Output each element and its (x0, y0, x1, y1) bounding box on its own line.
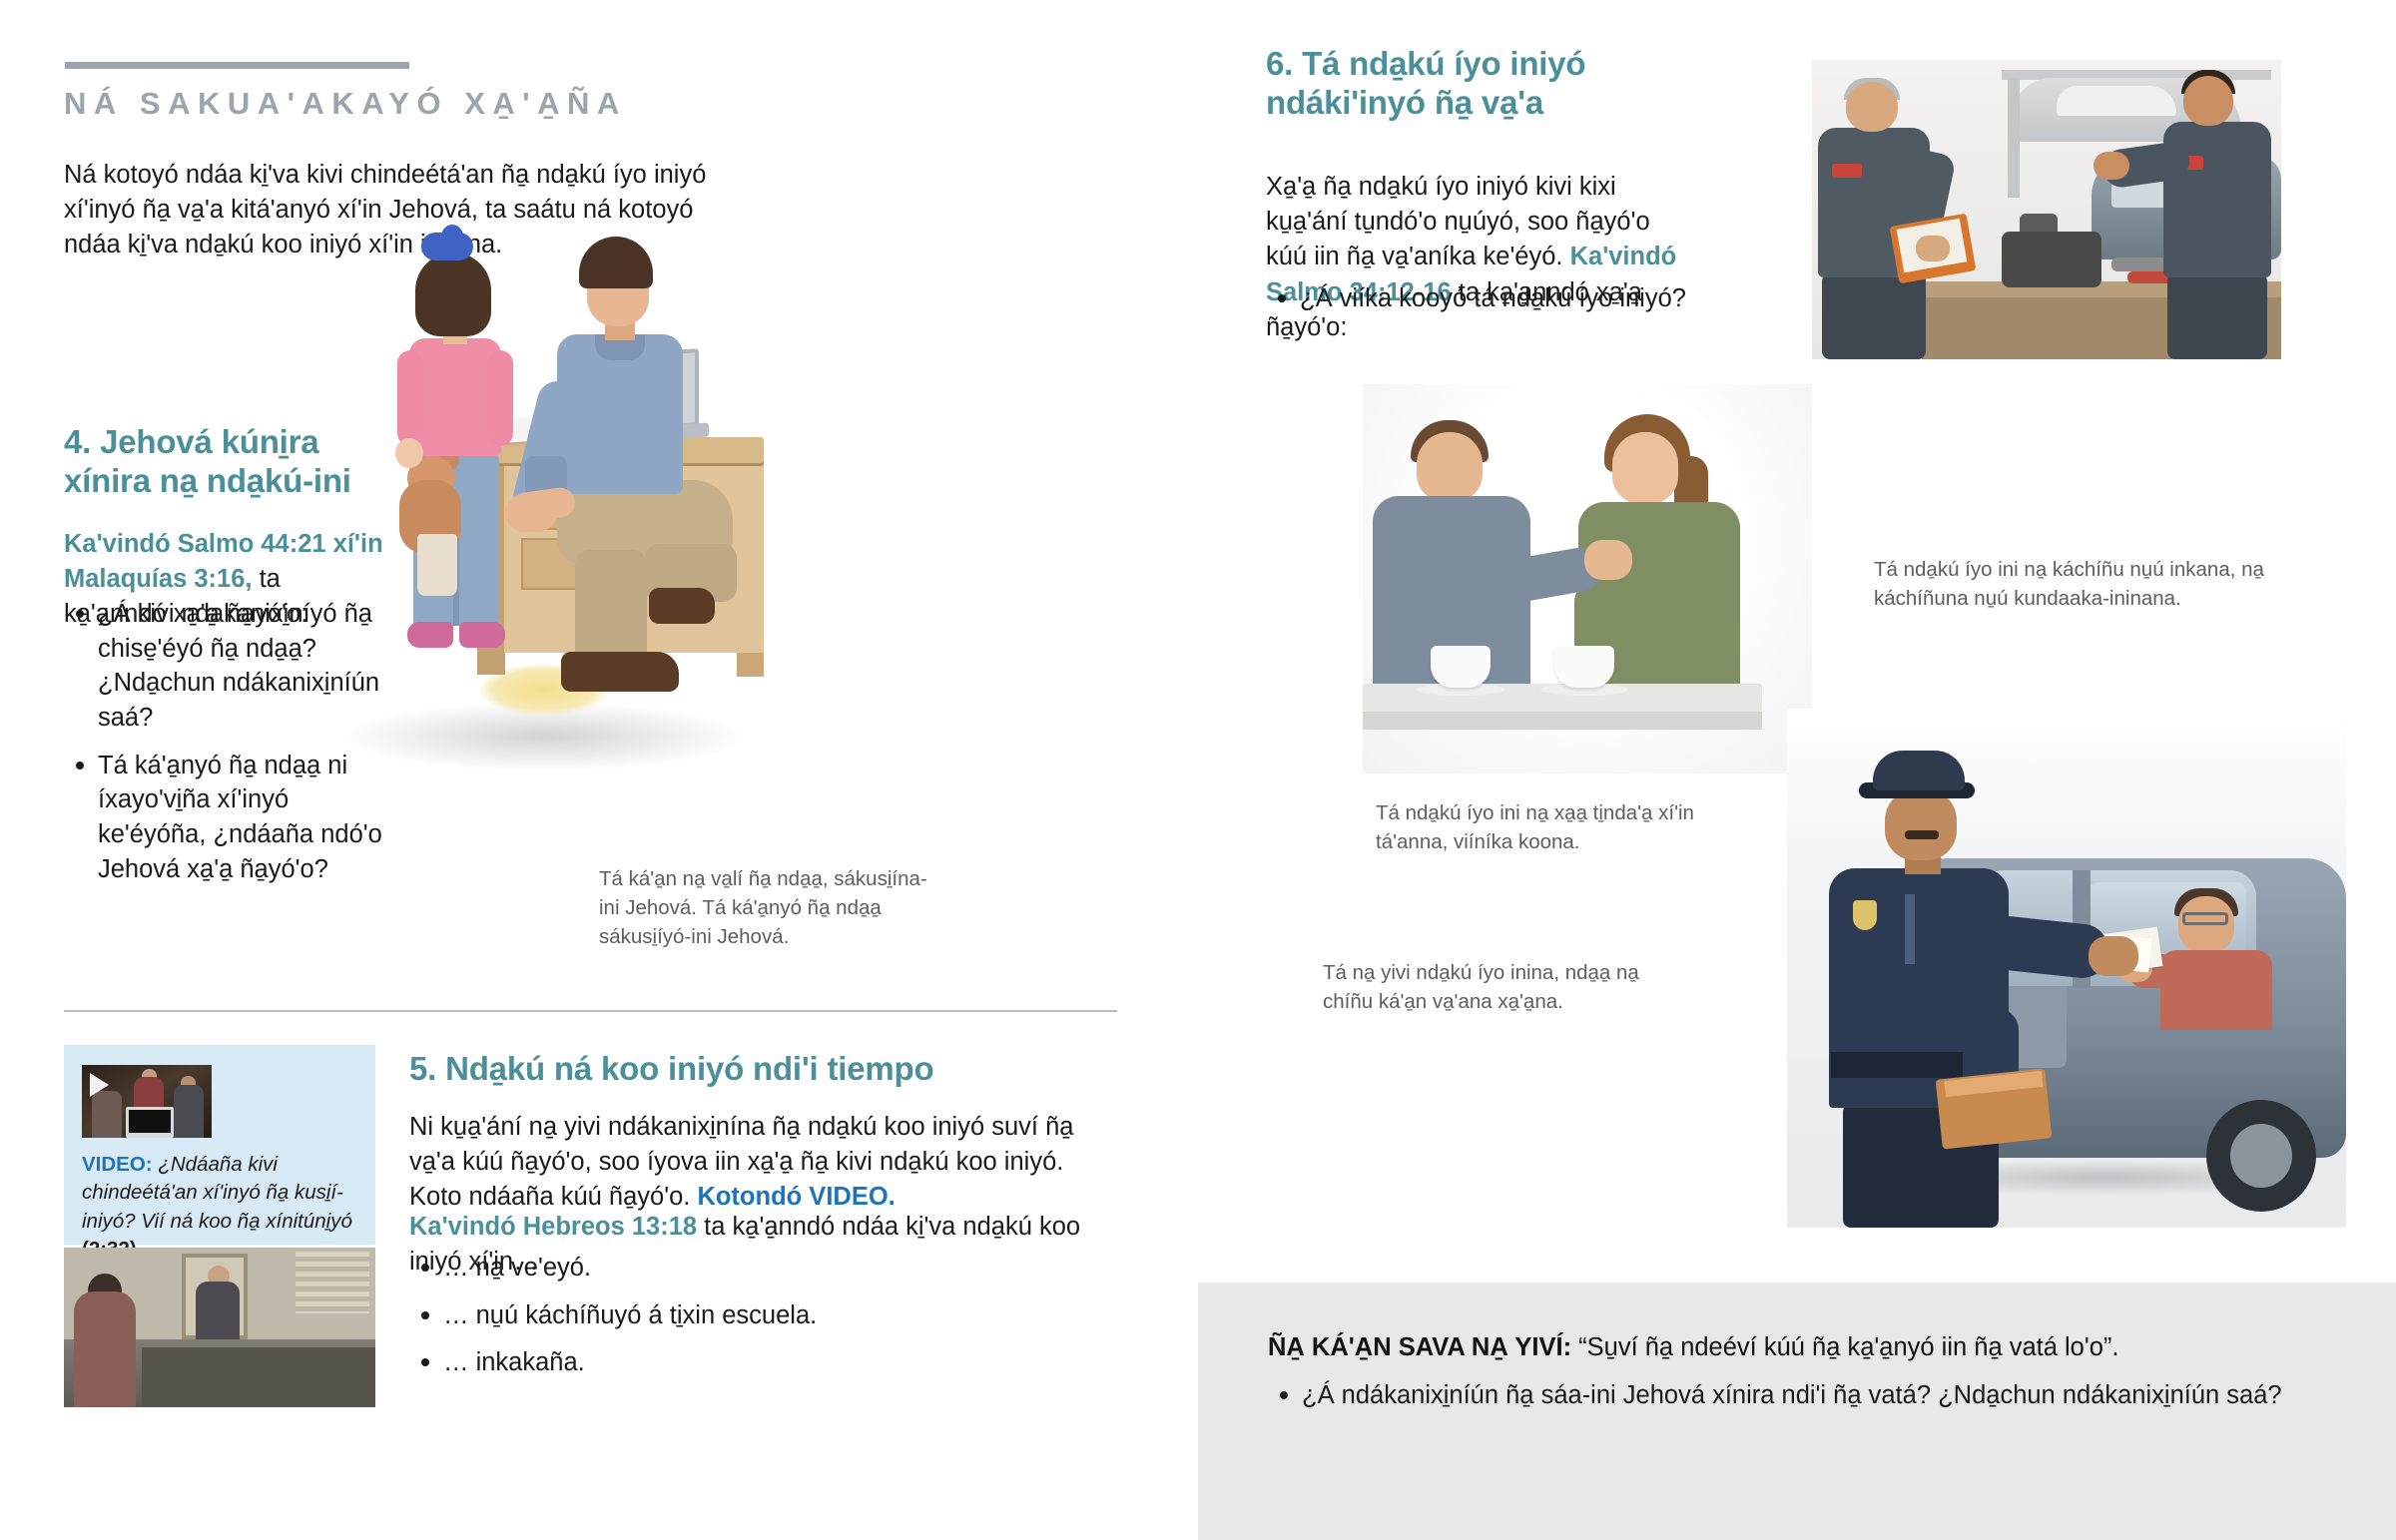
opinion-bullets: ¿Á ndákanixi̱níún ña̱ sáa-ini Jehová xín… (1268, 1378, 2356, 1426)
caption-police: Tá na̱ yivi nda̱kú íyo inina, nda̱a̱ na̱… (1323, 958, 1662, 1016)
caption-father-daughter: Tá ká'a̱n na̱ va̱lí ña̱ nda̱a̱, sákusi̱í… (599, 864, 928, 951)
list-item: … nu̱ú káchíñuyó á ti̱xin escuela. (409, 1298, 1120, 1333)
opinion-quote: “Su̱ví ña̱ ndeéví kúú ña̱ ka̱'a̱nyó iin … (1571, 1333, 2118, 1361)
article-page: NÁ SAKUA'AKAYÓ XA̱'A̱ÑA Ná kotoyó ndáa k… (0, 0, 2396, 1540)
section-6-heading: 6. Tá nda̱kú íyo iniyó ndáki'inyó ña̱ va… (1266, 45, 1685, 123)
illustration-mechanic-shop (1812, 60, 2281, 359)
video-label: VIDEO: (82, 1153, 153, 1176)
play-icon[interactable] (90, 1073, 109, 1097)
page-title: NÁ SAKUA'AKAYÓ XA̱'A̱ÑA (64, 86, 627, 122)
opinion-callout-box: ÑA̱ KÁ'A̱N SAVA NA̱ YIVÍ: “Su̱ví ña̱ nde… (1198, 1283, 2396, 1540)
illustration-police-traffic-stop (1787, 709, 2346, 1228)
list-item: ¿Á viíka kooyó tá nda̱kú íyo iniyó? (1266, 281, 1705, 316)
opinion-quote-line: ÑA̱ KÁ'A̱N SAVA NA̱ YIVÍ: “Su̱ví ña̱ nde… (1268, 1330, 2336, 1365)
illustration-father-daughter-desk (329, 195, 759, 843)
section-divider (64, 1010, 1117, 1012)
photo-office-meeting (64, 1248, 375, 1407)
opinion-label: ÑA̱ KÁ'A̱N SAVA NA̱ YIVÍ: (1268, 1333, 1571, 1361)
caption-mechanic-shop: Tá nda̱kú íyo ini na̱ káchíñu nu̱ú inkan… (1874, 555, 2273, 613)
section-5-heading: 5. Nda̱kú ná koo iniyó ndi'i tiempo (409, 1050, 1118, 1089)
section-5-body: Ni ku̱a̱'ání na̱ yivi ndákanixi̱nína ña̱… (409, 1110, 1120, 1216)
section-6-bullets: ¿Á viíka kooyó tá nda̱kú íyo iniyó? (1266, 281, 1705, 329)
scripture-link-hebreos-13[interactable]: Ka'vindó Hebreos 13:18 (409, 1213, 697, 1241)
list-item: … na̱ ve'eyó. (409, 1251, 1120, 1285)
header-rule (65, 62, 409, 69)
list-item: … inkakaña. (409, 1345, 1120, 1380)
list-item: ¿Á ndákanixi̱níún ña̱ sáa-ini Jehová xín… (1268, 1378, 2356, 1413)
caption-couple-coffee: Tá nda̱kú íyo ini na̱ xa̱a̱ ti̱nda'a̱ xí… (1376, 798, 1705, 856)
illustration-couple-coffee (1363, 384, 1812, 773)
video-link[interactable]: Kotondó VIDEO. (697, 1183, 895, 1211)
video-thumbnail[interactable] (82, 1065, 212, 1138)
section-5-bullets: … na̱ ve'eyó. … nu̱ú káchíñuyó á ti̱xin … (409, 1251, 1120, 1393)
video-callout-box[interactable]: VIDEO: ¿Ndáaña kivi chindeétá'an xí'inyó… (64, 1045, 375, 1245)
